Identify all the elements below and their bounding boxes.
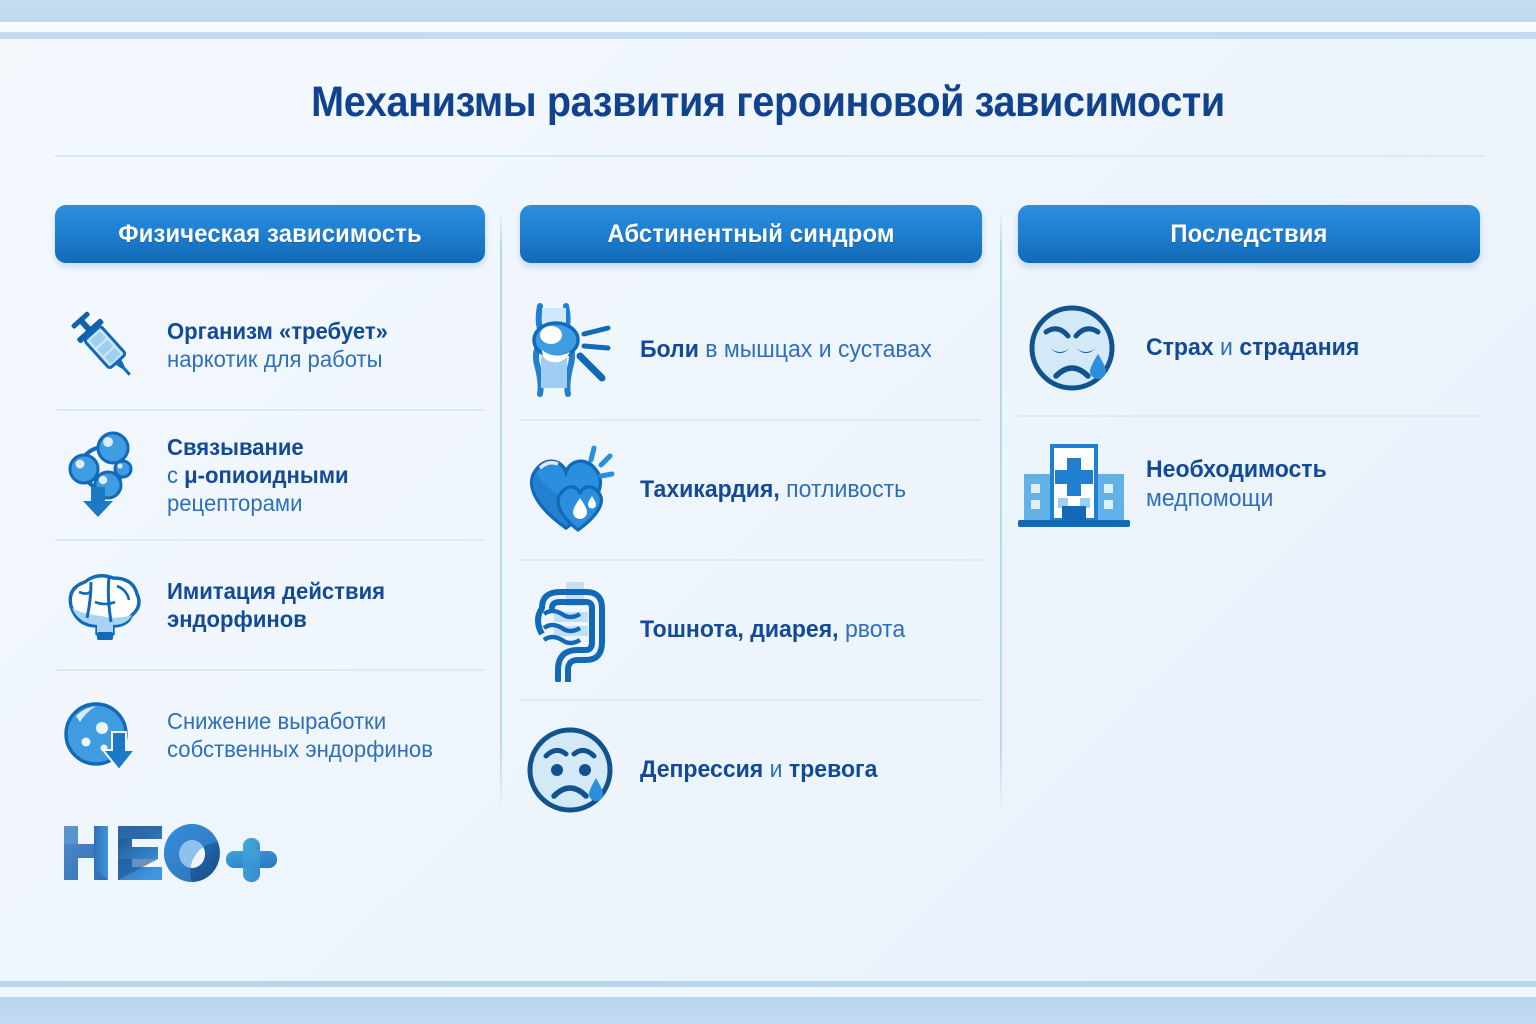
brain-icon <box>55 568 151 642</box>
item-text-bold: Организм «требует» <box>167 318 388 344</box>
top-rule <box>0 32 1536 39</box>
column-consequences: Последствия <box>1018 205 1480 551</box>
list-item: Тошнота, диарея, рвота <box>520 559 982 699</box>
sad-face-icon <box>520 722 624 818</box>
top-white-strip <box>0 22 1536 32</box>
bottom-white-strip <box>0 987 1536 997</box>
item-text-light: медпомощи <box>1146 485 1273 512</box>
item-text-light: собственных эндорфинов <box>167 736 433 762</box>
item-text-light: с <box>167 462 184 488</box>
list-item: Страх и страдания <box>1018 281 1480 415</box>
item-text-bold: Необходимость <box>1146 456 1327 483</box>
item-text-bold: Имитация действия <box>167 578 385 604</box>
list-item: Необходимость медпомощи <box>1018 415 1480 551</box>
endorphin-decrease-icon <box>55 692 151 778</box>
list-item: Тахикардия, потливость <box>520 419 982 559</box>
heart-sweat-icon <box>520 442 624 538</box>
column-header-consequences: Последствия <box>1018 205 1480 263</box>
joint-pain-icon <box>520 300 624 400</box>
hospital-icon <box>1018 436 1130 532</box>
column-header-label: Последствия <box>1030 220 1469 249</box>
item-text-light: и <box>763 756 789 783</box>
list-item-text: Тошнота, диарея, рвота <box>640 615 905 644</box>
list-item: Боли в мышцах и суставах <box>520 281 982 419</box>
list-item-text: Страх и страдания <box>1146 333 1359 362</box>
column-divider-1 <box>500 210 502 810</box>
intestine-icon <box>520 578 624 682</box>
item-text-bold: Связывание <box>167 434 304 460</box>
column-withdrawal-syndrome: Абстинентный синдром <box>520 205 982 839</box>
item-text-light: рецепторами <box>167 490 302 516</box>
list-item: Депрессия и тревога <box>520 699 982 839</box>
item-text-light: рвота <box>839 616 906 643</box>
page-title: Механизмы развития героиновой зависимост… <box>61 78 1474 127</box>
bottom-decorative-band <box>0 997 1536 1024</box>
list-item-text: Имитация действия эндорфинов <box>167 577 385 633</box>
item-text-bold: Страх <box>1146 334 1214 361</box>
item-text-light: Снижение выработки <box>167 708 386 734</box>
title-underline-rule <box>55 155 1485 157</box>
item-text-bold: Боли <box>640 336 699 363</box>
column-header-label: Абстинентный синдром <box>532 220 971 249</box>
column-header-label: Физическая зависимость <box>66 220 475 249</box>
infographic-canvas: Механизмы развития героиновой зависимост… <box>0 0 1536 1024</box>
column-header-withdrawal-syndrome: Абстинентный синдром <box>520 205 982 263</box>
item-text-light: потливость <box>780 476 906 503</box>
neo-plus-logo <box>60 818 300 888</box>
item-text-light: в мышцах и суставах <box>699 336 932 363</box>
column-items: Боли в мышцах и суставах <box>520 281 982 839</box>
item-text-bold-2: тревога <box>789 756 878 783</box>
item-text-light: наркотик для работы <box>167 346 383 372</box>
column-items: Организм «требует» наркотик для работы <box>55 281 485 799</box>
list-item-text: Организм «требует» наркотик для работы <box>167 317 388 373</box>
column-items: Страх и страдания <box>1018 281 1480 551</box>
list-item-text: Тахикардия, потливость <box>640 475 906 504</box>
column-physical-dependence: Физическая зависимость <box>55 205 485 799</box>
column-header-physical-dependence: Физическая зависимость <box>55 205 485 263</box>
syringe-icon <box>55 303 151 387</box>
item-text-bold: μ-опиоидными <box>184 462 348 488</box>
list-item: Снижение выработки собственных эндорфино… <box>55 669 485 799</box>
item-text-bold: эндорфинов <box>167 606 307 632</box>
molecule-receptor-icon <box>55 429 151 521</box>
list-item-text: Боли в мышцах и суставах <box>640 335 932 364</box>
item-text-bold: Тошнота, диарея, <box>640 616 839 643</box>
list-item-text: Необходимость медпомощи <box>1146 455 1327 514</box>
item-text-bold-2: страдания <box>1239 334 1359 361</box>
list-item-text: Депрессия и тревога <box>640 755 877 784</box>
list-item: Связывание с μ-опиоидными рецепторами <box>55 409 485 539</box>
columns-container: Физическая зависимость <box>0 205 1536 825</box>
list-item-text: Связывание с μ-опиоидными рецепторами <box>167 433 349 517</box>
list-item: Организм «требует» наркотик для работы <box>55 281 485 409</box>
column-divider-2 <box>1000 210 1002 810</box>
item-text-bold: Депрессия <box>640 756 763 783</box>
item-text-light: и <box>1214 334 1240 361</box>
list-item: Имитация действия эндорфинов <box>55 539 485 669</box>
top-decorative-band <box>0 0 1536 22</box>
list-item-text: Снижение выработки собственных эндорфино… <box>167 707 433 763</box>
crying-face-icon <box>1018 300 1130 396</box>
item-text-bold: Тахикардия, <box>640 476 780 503</box>
